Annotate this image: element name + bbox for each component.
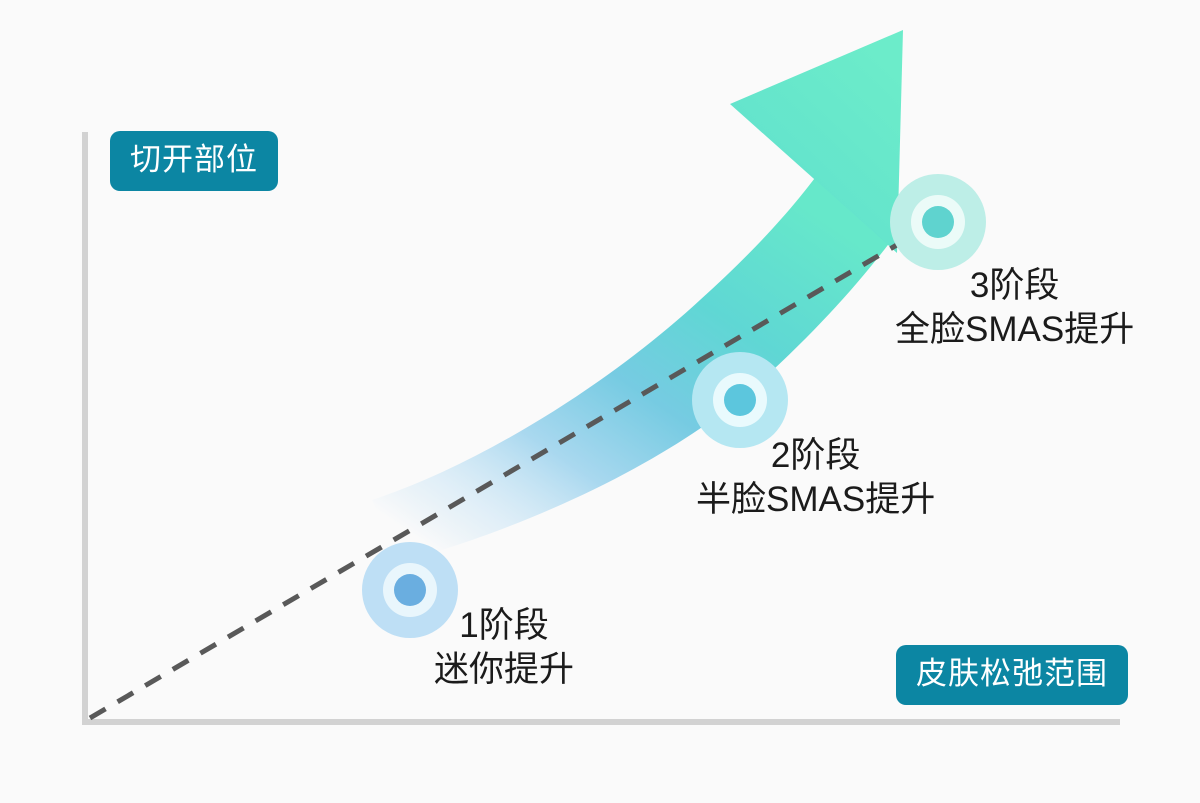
stage-title-2: 2阶段 (696, 434, 935, 478)
stage-label-3: 3阶段 全脸SMAS提升 (895, 264, 1134, 352)
stage-subtitle-3: 全脸SMAS提升 (895, 308, 1134, 352)
stage-subtitle-1: 迷你提升 (434, 648, 574, 692)
stage-title-1: 1阶段 (434, 604, 574, 648)
x-axis-badge-label: 皮肤松弛范围 (916, 658, 1108, 689)
diagram-canvas: 切开部位 皮肤松弛范围 1阶段 迷你提升 2阶段 半脸SMAS提升 3阶段 全脸… (0, 0, 1200, 803)
y-axis-badge[interactable]: 切开部位 (110, 131, 278, 191)
stage-marker-3[interactable] (890, 174, 986, 270)
x-axis-badge[interactable]: 皮肤松弛范围 (896, 645, 1128, 705)
stage-label-1: 1阶段 迷你提升 (434, 604, 574, 692)
y-axis-badge-label: 切开部位 (130, 144, 258, 175)
stage-label-2: 2阶段 半脸SMAS提升 (696, 434, 935, 522)
stage-title-3: 3阶段 (895, 264, 1134, 308)
stage-subtitle-2: 半脸SMAS提升 (696, 478, 935, 522)
